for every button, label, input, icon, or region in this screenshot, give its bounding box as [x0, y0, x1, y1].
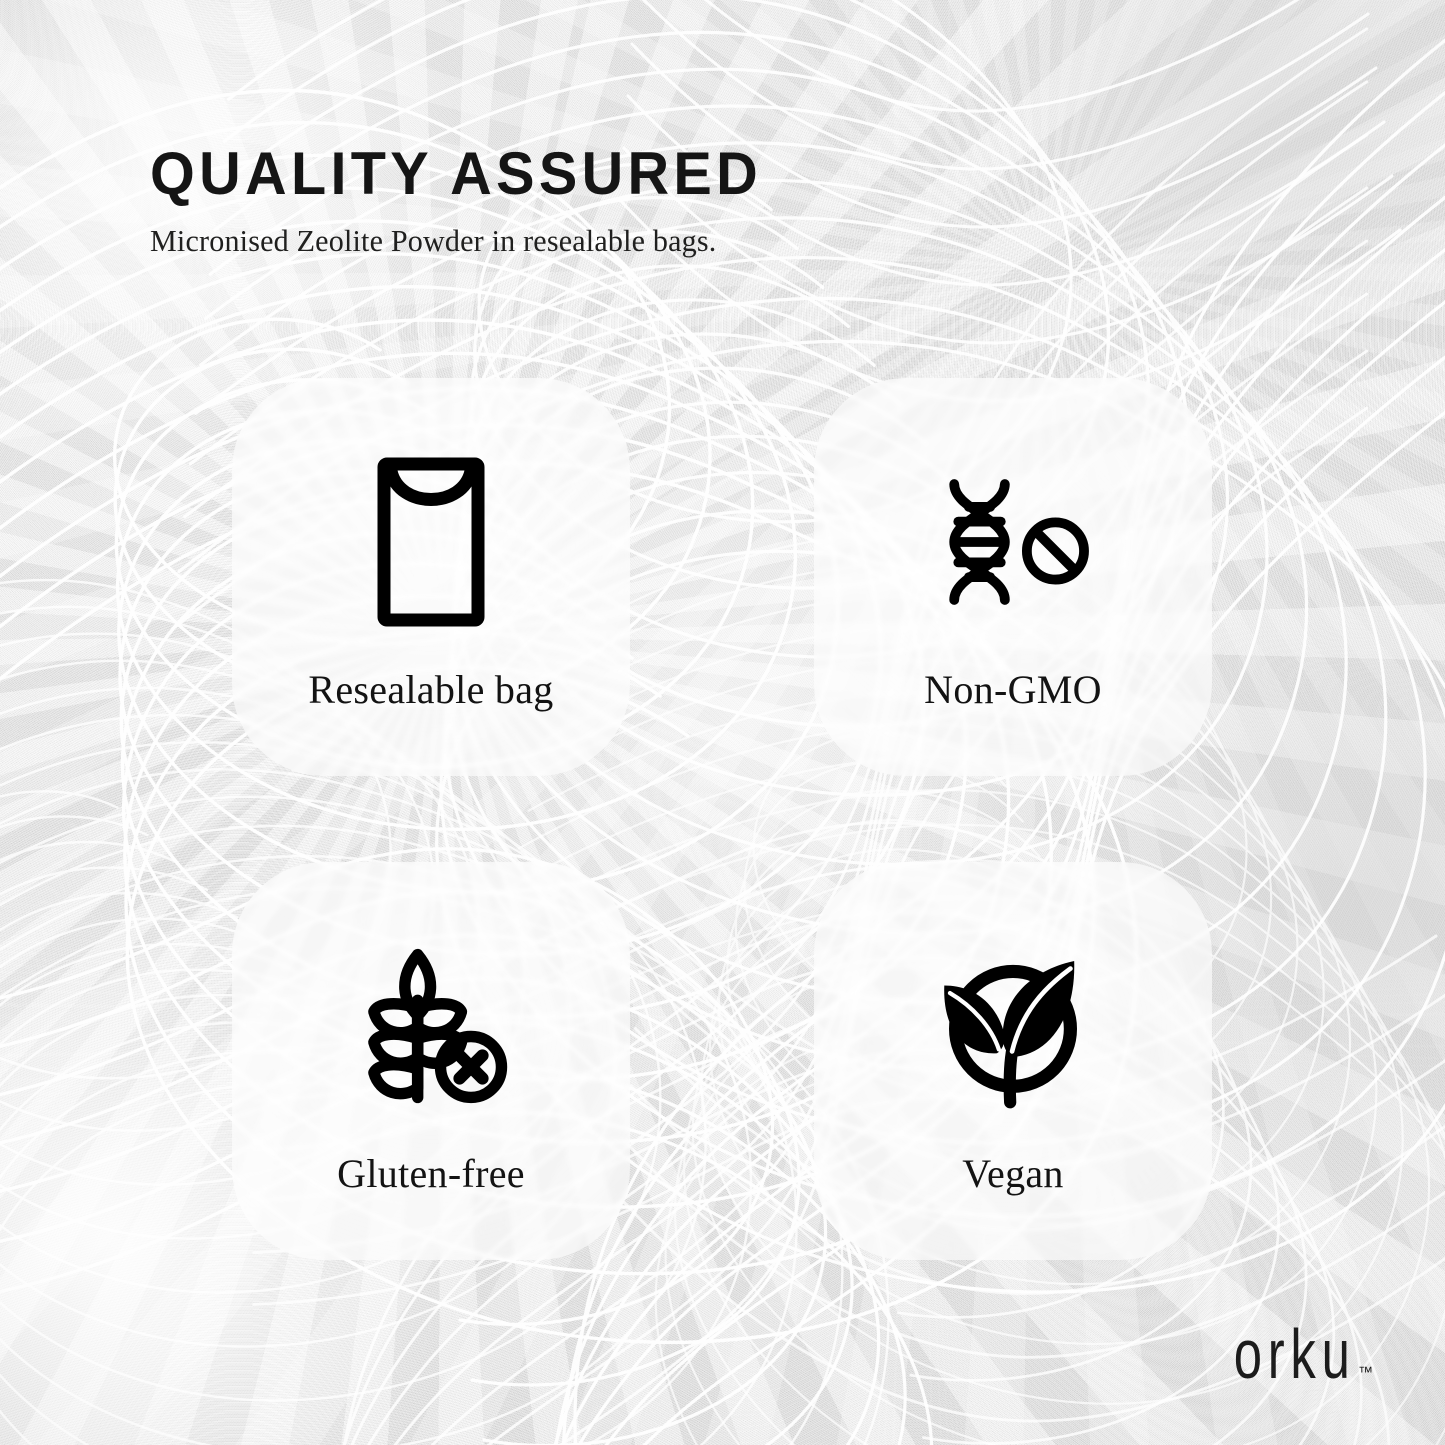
badge-label: Vegan: [962, 1150, 1063, 1197]
brand-name: orku: [1234, 1323, 1356, 1387]
wheat-crossed-out-icon: [351, 946, 511, 1106]
brand-logo: orku ™: [1207, 1330, 1373, 1387]
badge-label: Gluten-free: [337, 1150, 525, 1197]
infographic-canvas: QUALITY ASSURED Micronised Zeolite Powde…: [0, 0, 1445, 1445]
feature-badge-grid: Resealable bag: [232, 378, 1212, 1260]
badge-card-vegan: Vegan: [814, 862, 1212, 1260]
page-subtitle: Micronised Zeolite Powder in resealable …: [150, 224, 768, 258]
badge-label: Non-GMO: [924, 666, 1102, 713]
content-layer: QUALITY ASSURED Micronised Zeolite Powde…: [0, 0, 1445, 1445]
badge-card-gluten-free: Gluten-free: [232, 862, 630, 1260]
trademark-symbol: ™: [1358, 1364, 1373, 1381]
resealable-bag-icon: [351, 462, 511, 622]
badge-card-resealable-bag: Resealable bag: [232, 378, 630, 776]
dna-no-gmo-icon: [933, 462, 1093, 622]
badge-card-non-gmo: Non-GMO: [814, 378, 1212, 776]
badge-label: Resealable bag: [308, 666, 553, 713]
leaf-sprout-circle-icon: [933, 946, 1093, 1106]
header-block: QUALITY ASSURED Micronised Zeolite Powde…: [150, 144, 788, 258]
page-title: QUALITY ASSURED: [150, 144, 762, 204]
